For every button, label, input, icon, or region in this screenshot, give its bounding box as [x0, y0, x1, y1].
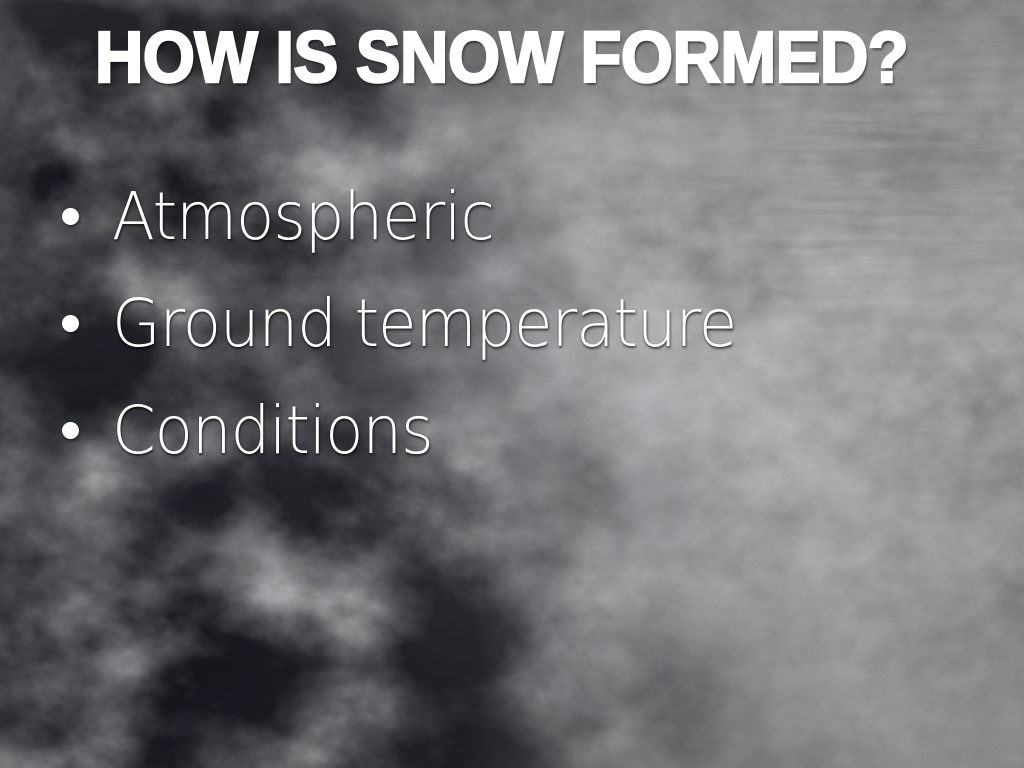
slide-bullet-list: Atmospheric Ground temperature Condition…	[62, 163, 769, 484]
slide-title: HOW IS SNOW FORMED?	[95, 22, 908, 94]
bullet-item-ground-temperature: Ground temperature	[62, 270, 769, 377]
bullet-item-label: Ground temperature	[112, 291, 736, 357]
bullet-dot-icon	[62, 208, 79, 225]
bullet-item-label: Atmospheric	[112, 184, 494, 250]
bullet-item-conditions: Conditions	[62, 377, 769, 484]
presentation-slide: HOW IS SNOW FORMED? Atmospheric Ground t…	[0, 0, 1024, 768]
bullet-dot-icon	[62, 422, 79, 439]
slide-content: HOW IS SNOW FORMED? Atmospheric Ground t…	[0, 0, 1024, 768]
bullet-item-label: Conditions	[112, 398, 432, 464]
bullet-item-atmospheric: Atmospheric	[62, 163, 769, 270]
bullet-dot-icon	[62, 315, 79, 332]
